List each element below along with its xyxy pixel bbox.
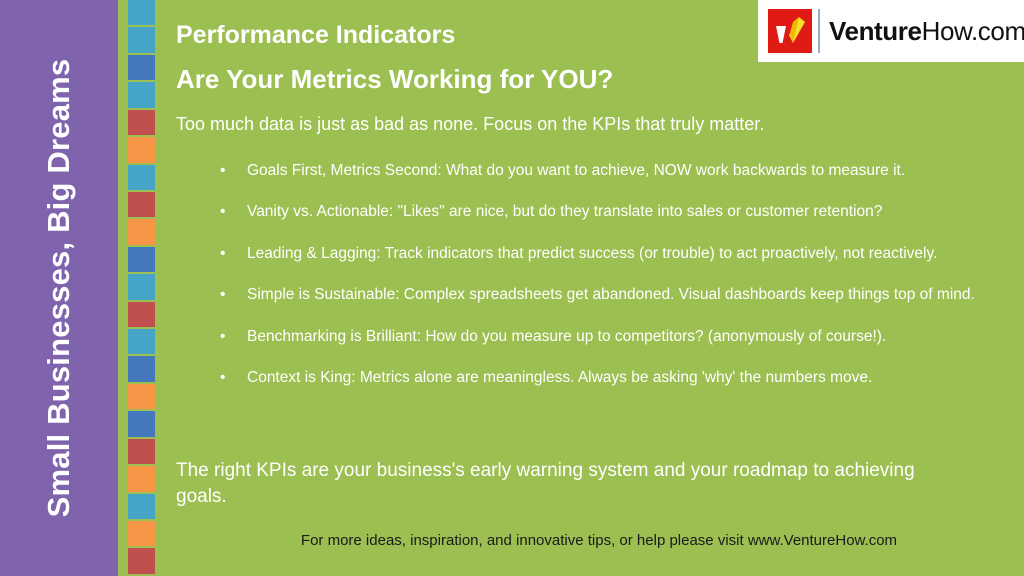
list-item: •Context is King: Metrics alone are mean… (220, 367, 1004, 389)
color-chip (128, 384, 155, 409)
color-chip (128, 137, 155, 162)
bullet-marker-icon: • (220, 160, 225, 182)
sidebar-panel: Small Businesses, Big Dreams (0, 0, 118, 576)
color-chip (128, 27, 155, 52)
list-item-text: Benchmarking is Brilliant: How do you me… (247, 328, 886, 345)
color-chip (128, 55, 155, 80)
main-content: Performance Indicators Are Your Metrics … (176, 0, 1014, 576)
color-chip (128, 329, 155, 354)
color-chip (128, 192, 155, 217)
color-chip (128, 466, 155, 491)
color-chip (128, 274, 155, 299)
color-chip (128, 82, 155, 107)
closing-statement: The right KPIs are your business's early… (176, 458, 934, 510)
list-item: •Vanity vs. Actionable: "Likes" are nice… (220, 201, 1004, 223)
sidebar-title: Small Businesses, Big Dreams (0, 0, 118, 576)
list-item-text: Leading & Lagging: Track indicators that… (247, 245, 937, 262)
intro-text: Too much data is just as bad as none. Fo… (176, 112, 994, 136)
footer-text: For more ideas, inspiration, and innovat… (224, 532, 974, 549)
color-chip (128, 110, 155, 135)
list-item: •Simple is Sustainable: Complex spreadsh… (220, 284, 1004, 306)
list-item: •Leading & Lagging: Track indicators tha… (220, 243, 1004, 265)
color-chip (128, 302, 155, 327)
color-chip (128, 219, 155, 244)
color-chip-strip (128, 0, 155, 576)
color-chip (128, 548, 155, 573)
eyebrow-heading: Performance Indicators (176, 22, 455, 48)
list-item-text: Simple is Sustainable: Complex spreadshe… (247, 286, 975, 303)
color-chip (128, 247, 155, 272)
color-chip (128, 356, 155, 381)
color-chip (128, 0, 155, 25)
list-item: •Goals First, Metrics Second: What do yo… (220, 160, 1004, 182)
bullet-list: •Goals First, Metrics Second: What do yo… (220, 160, 1004, 409)
list-item-text: Context is King: Metrics alone are meani… (247, 369, 872, 386)
list-item: •Benchmarking is Brilliant: How do you m… (220, 326, 1004, 348)
list-item-text: Vanity vs. Actionable: "Likes" are nice,… (247, 203, 882, 220)
bullet-marker-icon: • (220, 201, 225, 223)
color-chip (128, 521, 155, 546)
bullet-marker-icon: • (220, 284, 225, 306)
slide: Small Businesses, Big Dreams VentureHow.… (0, 0, 1024, 576)
bullet-marker-icon: • (220, 326, 225, 348)
color-chip (128, 439, 155, 464)
page-title: Are Your Metrics Working for YOU? (176, 66, 613, 93)
color-chip (128, 165, 155, 190)
color-chip (128, 411, 155, 436)
bullet-marker-icon: • (220, 243, 225, 265)
list-item-text: Goals First, Metrics Second: What do you… (247, 162, 905, 179)
color-chip (128, 494, 155, 519)
bullet-marker-icon: • (220, 367, 225, 389)
